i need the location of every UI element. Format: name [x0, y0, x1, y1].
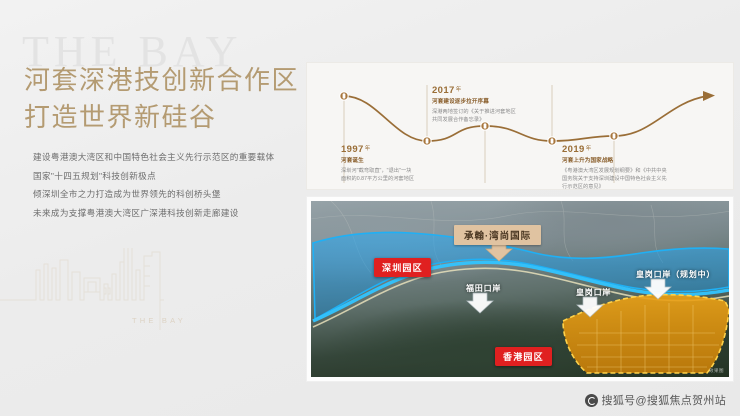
sohu-logo-icon	[585, 394, 598, 407]
left-panel: THE BAY 河套深港技创新合作区 打造世界新硅谷 建设粤港澳大湾区和中国特色…	[0, 0, 300, 416]
timeline-body-2019: 《粤港澳大湾区发展规划纲要》和《中共中央国务院关于支持深圳建设中国特色社会主义先…	[562, 167, 702, 191]
headline-line-1: 河套深港技创新合作区	[24, 62, 299, 99]
shenzhen-park-tag: 深圳园区	[374, 258, 431, 277]
body-copy-line-2: 国家"十四五规划"科技创新极点	[33, 167, 295, 186]
body-copy-line-4: 未来成为支撑粤港澳大湾区广深港科技创新走廊建设	[33, 204, 295, 223]
body-copy-line-3: 倾深圳全市之力打造成为世界领先的科创桥头堡	[33, 185, 295, 204]
huanggang-planned-port-label: 皇岗口岸（规划中）	[636, 269, 715, 280]
timeline-card: 1997年 河套诞生 深圳河"截弯取直"，"退出"一块面积的0.87平方公里的河…	[306, 62, 734, 190]
right-column: 1997年 河套诞生 深圳河"截弯取直"，"退出"一块面积的0.87平方公里的河…	[300, 0, 740, 416]
hongkong-park-tag: 香港园区	[495, 347, 552, 366]
project-label: 承翰·湾尚国际	[454, 225, 541, 245]
timeline-heading-2017: 河套建设逐步拉开序幕	[432, 99, 556, 106]
timeline-heading-1997: 河套诞生	[341, 158, 465, 165]
futian-port-label: 福田口岸	[466, 283, 501, 294]
skyline-caption: THE BAY	[132, 316, 186, 325]
timeline-body-1997: 深圳河"截弯取直"，"退出"一块面积的0.87平方公里的河套地区	[341, 167, 465, 183]
timeline-heading-2019: 河套上升为国家战略	[562, 158, 702, 165]
huanggang-port-label: 皇岗口岸	[576, 287, 611, 298]
timeline-year-2017: 2017年	[432, 86, 556, 96]
timeline-entry-2017: 2017年 河套建设逐步拉开序幕 深港两地签订的《关于推进河套地区共同发展合作备…	[432, 86, 556, 124]
page-title: 河套深港技创新合作区 打造世界新硅谷	[24, 62, 299, 136]
sohu-watermark-text: 搜狐号@搜狐焦点贺州站	[602, 392, 726, 408]
body-copy: 建设粤港澳大湾区和中国特色社会主义先行示范区的重要载体 国家"十四五规划"科技创…	[33, 148, 295, 223]
map-card: 承翰·湾尚国际 深圳园区 香港园区 福田口岸 皇岗口岸 皇岗口岸（规划中） 效果…	[306, 196, 734, 382]
timeline-entry-1997: 1997年 河套诞生 深圳河"截弯取直"，"退出"一块面积的0.87平方公里的河…	[341, 145, 465, 183]
timeline-year-2019: 2019年	[562, 145, 702, 155]
aerial-map-image: 承翰·湾尚国际 深圳园区 香港园区 福田口岸 皇岗口岸 皇岗口岸（规划中） 效果…	[311, 201, 729, 377]
map-credit-note: 效果图	[709, 368, 724, 374]
sohu-watermark: 搜狐号@搜狐焦点贺州站	[585, 392, 726, 408]
timeline-body-2017: 深港两地签订的《关于推进河套地区共同发展合作备忘录》	[432, 108, 556, 124]
skyline-logo-icon	[0, 248, 200, 368]
timeline-year-1997: 1997年	[341, 145, 465, 155]
body-copy-line-1: 建设粤港澳大湾区和中国特色社会主义先行示范区的重要载体	[33, 148, 295, 167]
headline-line-2: 打造世界新硅谷	[24, 99, 299, 136]
timeline-entry-2019: 2019年 河套上升为国家战略 《粤港澳大湾区发展规划纲要》和《中共中央国务院关…	[562, 145, 702, 191]
